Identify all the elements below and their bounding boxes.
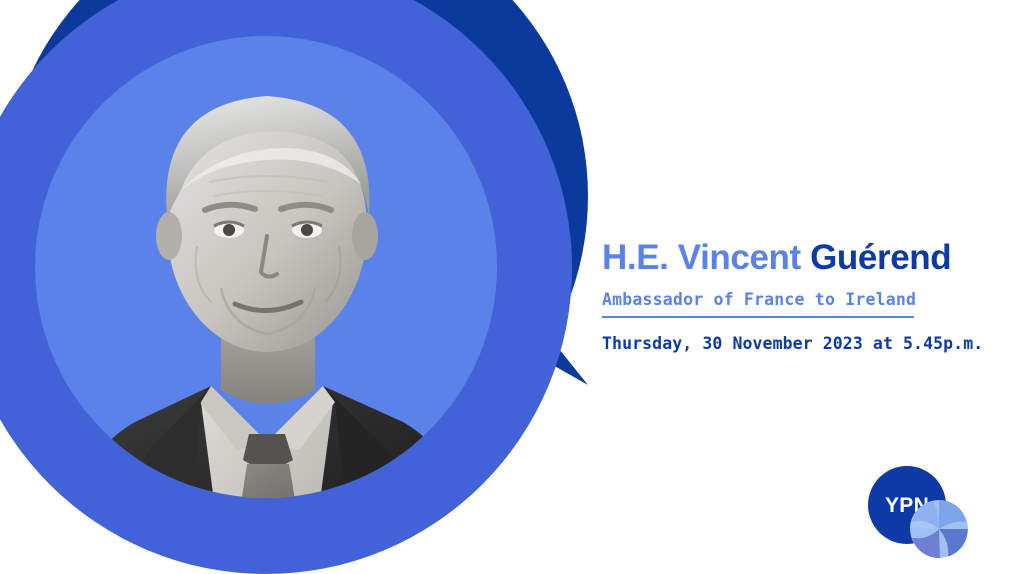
speaker-role: Ambassador of France to Ireland bbox=[602, 290, 1002, 309]
divider-rule bbox=[602, 316, 914, 318]
ypn-logo: YPN bbox=[862, 460, 974, 562]
light-blue-circle bbox=[35, 36, 497, 498]
speaker-details: H.E. Vincent Guérend Ambassador of Franc… bbox=[602, 238, 1002, 353]
background-shapes bbox=[0, 0, 620, 574]
event-date: Thursday, 30 November 2023 at 5.45p.m. bbox=[602, 334, 1002, 353]
speaker-name: H.E. Vincent Guérend bbox=[602, 238, 1002, 278]
pinwheel-orb-icon bbox=[910, 500, 968, 558]
speaker-name-prefix: H.E. Vincent bbox=[602, 238, 801, 277]
speaker-name-surname: Guérend bbox=[810, 238, 951, 277]
slide-canvas: H.E. Vincent Guérend Ambassador of Franc… bbox=[0, 0, 1020, 574]
speaker-graphic bbox=[0, 0, 620, 574]
